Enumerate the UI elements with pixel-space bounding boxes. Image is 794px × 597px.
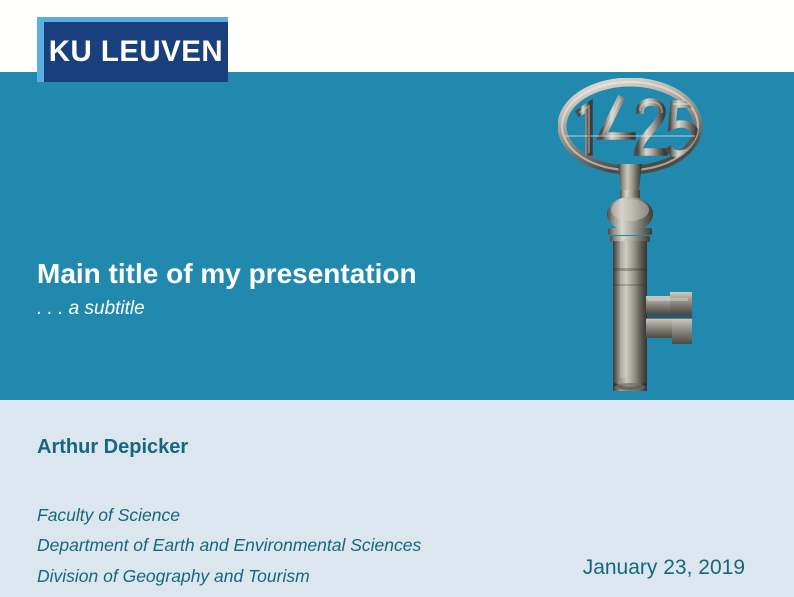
page-title: Main title of my presentation: [37, 258, 557, 289]
logo-box: KU LEUVEN: [44, 22, 228, 82]
ku-leuven-logo: KU LEUVEN: [37, 17, 228, 82]
affiliation-list: Faculty of Science Department of Earth a…: [37, 500, 597, 591]
list-item: Department of Earth and Environmental Sc…: [37, 530, 597, 560]
list-item: Faculty of Science: [37, 500, 597, 530]
list-item: Division of Geography and Tourism: [37, 561, 597, 591]
title-slide: KU LEUVEN: [0, 0, 794, 597]
page-subtitle: . . . a subtitle: [37, 299, 557, 320]
slide-date: January 23, 2019: [583, 557, 745, 578]
title-block: Main title of my presentation . . . a su…: [37, 258, 557, 320]
antique-key-icon: [558, 78, 728, 398]
author-block: Arthur Depicker Faculty of Science Depar…: [37, 436, 597, 591]
logo-wordmark: KU LEUVEN: [49, 37, 223, 67]
author-name: Arthur Depicker: [37, 436, 597, 458]
